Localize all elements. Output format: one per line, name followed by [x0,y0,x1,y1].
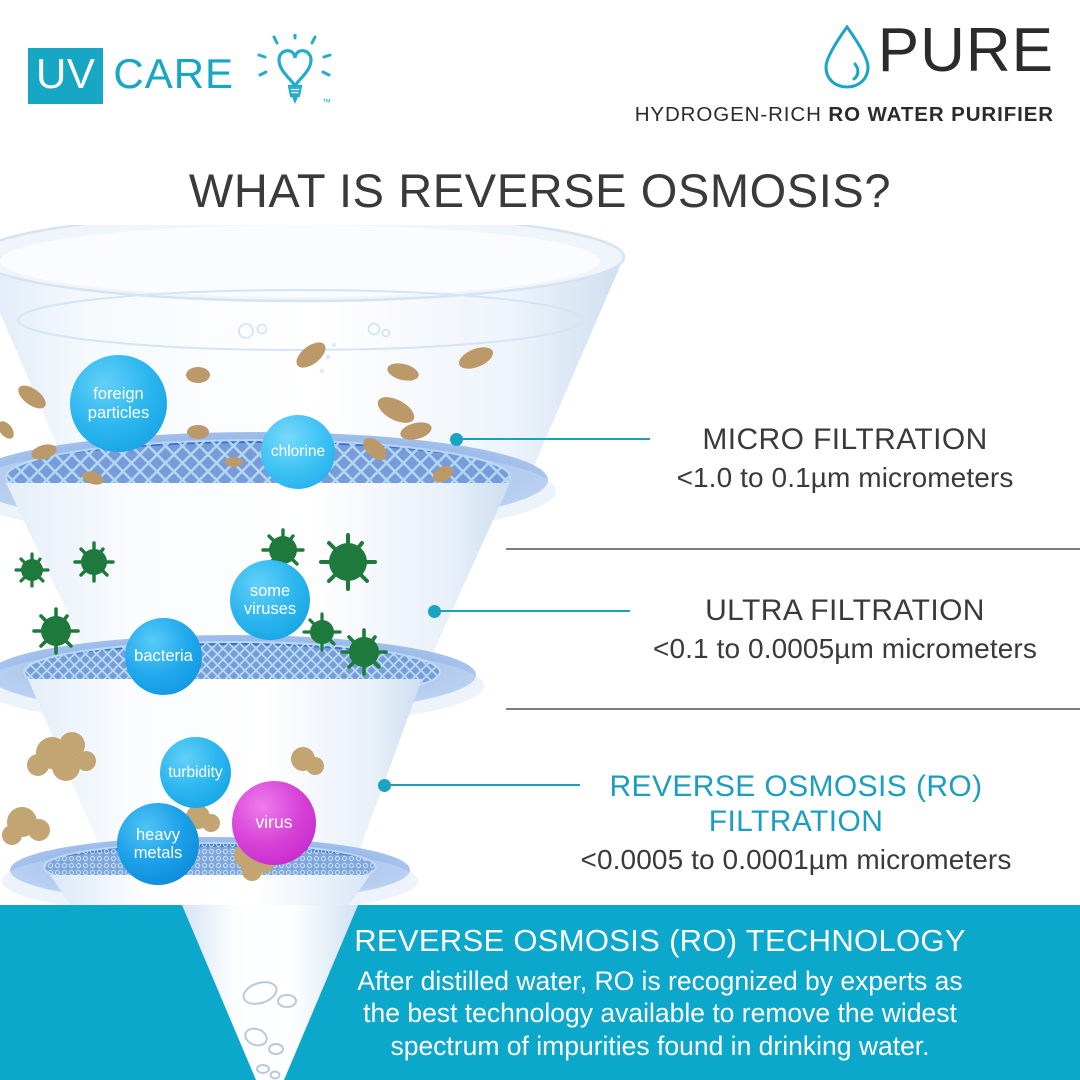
banner-body: After distilled water, RO is recognized … [300,965,1020,1062]
contaminant-bubble-virus: virus [232,781,316,865]
contaminant-bubble-bacteria: bacteria [125,618,202,695]
contaminant-label: foreign particles [70,385,167,422]
stage-label-micro-filtration: MICRO FILTRATION <1.0 to 0.1µm micromete… [620,423,1070,494]
contaminant-bubble-foreign-particles: foreign particles [70,355,167,452]
contaminant-bubble-turbidity: turbidity [160,737,231,808]
page-title: WHAT IS REVERSE OSMOSIS? [0,163,1080,218]
pure-product-logo: PURE HYDROGEN-RICH RO WATER PURIFIER [635,22,1054,127]
connector-line-ultra [438,610,630,612]
stage-spec: <1.0 to 0.1µm micrometers [620,462,1070,494]
connector-line-reverse-osmosis [388,784,580,786]
stage-title-line1: REVERSE OSMOSIS (RO) [556,770,1036,805]
water-droplet-icon [818,22,876,97]
funnel-spout-overlay [160,905,380,1080]
contaminant-bubble-chlorine: chlorine [261,415,335,489]
uv-care-care-mark: CARE [113,53,234,98]
product-tagline: HYDROGEN-RICH RO WATER PURIFIER [635,103,1054,127]
contaminant-label: some viruses [230,582,310,619]
stage-spec: <0.0005 to 0.0001µm micrometers [556,844,1036,876]
stage-label-reverse-osmosis-filtration: REVERSE OSMOSIS (RO) FILTRATION <0.0005 … [556,770,1036,876]
stage-divider-top [506,548,1080,550]
contaminant-label: heavy metals [117,826,199,863]
contaminant-label: chlorine [271,443,325,460]
uv-care-logo: UV CARE ™ [28,38,334,113]
contaminant-label: virus [256,813,293,833]
contaminant-label: bacteria [134,647,193,665]
banner-body-line-3: spectrum of impurities found in drinking… [300,1030,1020,1062]
heart-lightbulb-icon: ™ [248,34,334,113]
banner-title: REVERSE OSMOSIS (RO) TECHNOLOGY [300,923,1020,959]
stage-title: ULTRA FILTRATION [620,594,1070,629]
tagline-light: HYDROGEN-RICH [635,103,829,126]
stage-spec: <0.1 to 0.0005µm micrometers [620,633,1070,665]
stage-label-ultra-filtration: ULTRA FILTRATION <0.1 to 0.0005µm microm… [620,594,1070,665]
tagline-bold: RO WATER PURIFIER [828,103,1054,126]
trademark-glyph: ™ [322,97,331,107]
uv-care-uv-mark: UV [28,48,103,104]
stage-title-line2: FILTRATION [556,805,1036,840]
contaminant-bubble-some-viruses: some viruses [230,560,310,640]
banner-body-line-1: After distilled water, RO is recognized … [300,965,1020,997]
stage-title: MICRO FILTRATION [620,423,1070,458]
stage-divider-bottom [506,708,1080,710]
contaminant-bubble-heavy-metals: heavy metals [117,803,199,885]
product-name: PURE [878,22,1054,81]
banner-body-line-2: the best technology available to remove … [300,997,1020,1029]
contaminant-label: turbidity [168,764,222,781]
